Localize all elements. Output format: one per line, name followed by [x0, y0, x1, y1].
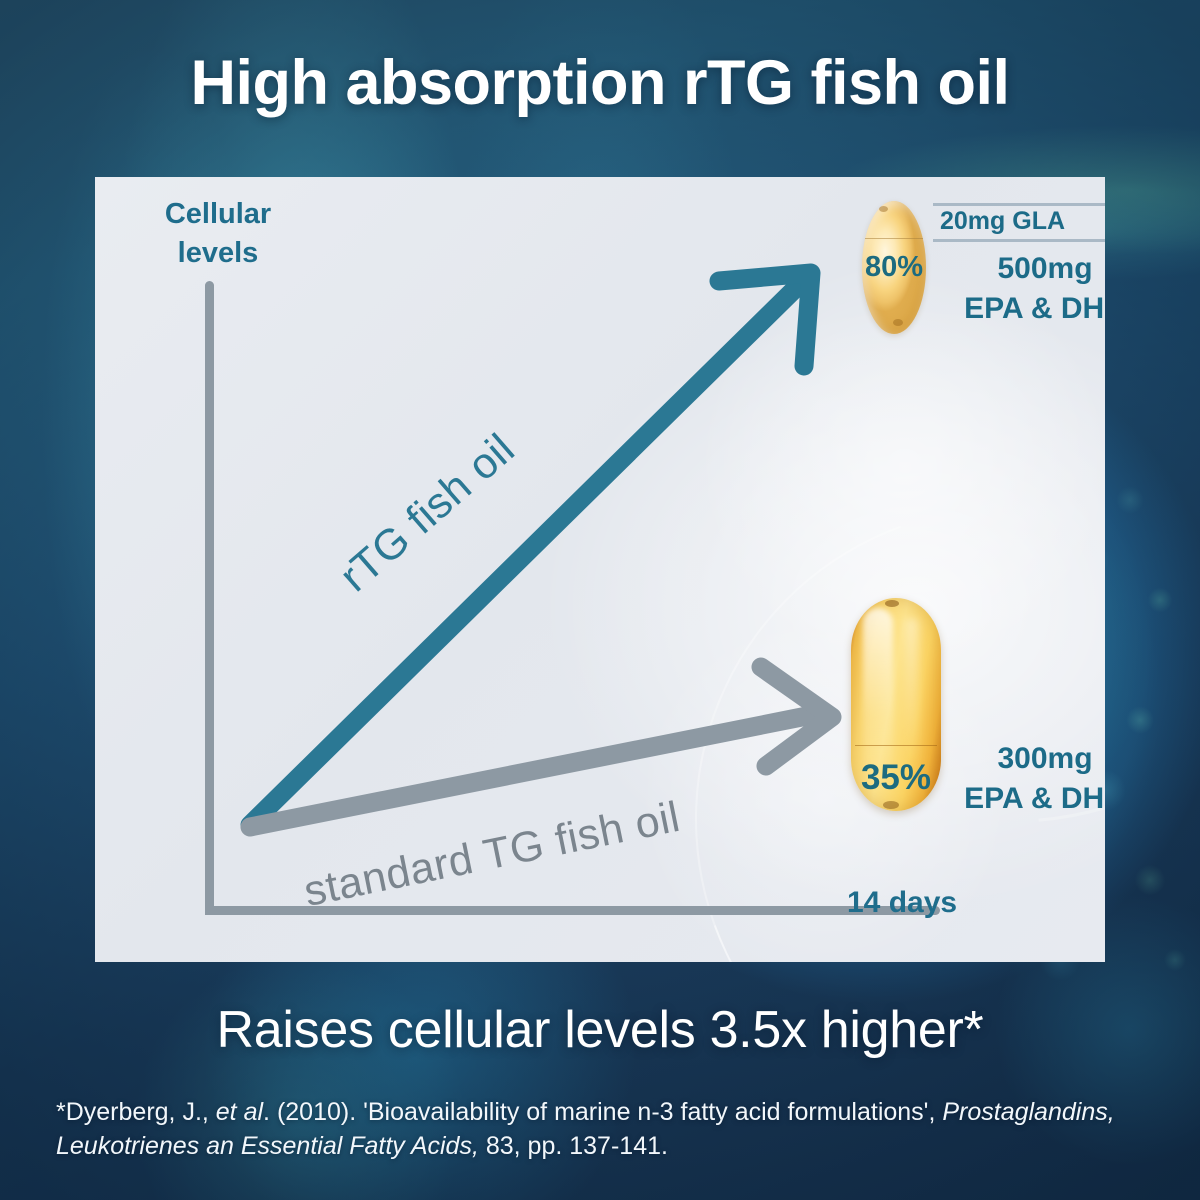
gla-divider-line-bottom: [933, 239, 1105, 242]
capsule-small-rtg: 80%: [862, 201, 926, 334]
citation-part2: . (2010). 'Bioavailability of marine n-3…: [263, 1098, 942, 1126]
capsule-small-divider: [865, 238, 923, 239]
capsule-large-epa-label: 300mg EPA & DHA: [940, 739, 1105, 818]
gla-divider-line-top: [933, 203, 1105, 206]
capsule-large-epa-line2: EPA & DHA: [940, 779, 1105, 819]
capsule-small-epa-label: 500mg EPA & DHA: [940, 249, 1105, 328]
capsule-small-epa-line1: 500mg: [940, 249, 1105, 289]
capsule-small-percent: 80%: [862, 251, 926, 284]
capsule-large-notch-bottom: [883, 801, 899, 809]
capsule-small-notch-top: [879, 206, 888, 212]
page-title: High absorption rTG fish oil: [0, 47, 1200, 119]
capsule-large-percent: 35%: [851, 758, 941, 798]
capsule-large-epa-line1: 300mg: [940, 739, 1105, 779]
citation-italic1: et al: [216, 1098, 263, 1126]
capsule-large-standard-tg: 35%: [851, 598, 941, 811]
citation-part1: *Dyerberg, J.,: [56, 1098, 216, 1126]
gla-label: 20mg GLA: [940, 207, 1065, 236]
capsule-small-notch-bottom: [893, 319, 903, 326]
tagline: Raises cellular levels 3.5x higher*: [0, 1000, 1200, 1060]
chart-panel: Cellular levels 14 days rTG fish oil sta…: [95, 177, 1105, 962]
capsule-small-epa-line2: EPA & DHA: [940, 289, 1105, 329]
rtg-arrow: [250, 273, 811, 825]
citation-part3: 83, pp. 137-141.: [479, 1132, 668, 1160]
capsule-large-divider: [855, 745, 937, 746]
capsule-large-notch-top: [885, 600, 899, 607]
citation: *Dyerberg, J., et al. (2010). 'Bioavaila…: [56, 1096, 1146, 1164]
